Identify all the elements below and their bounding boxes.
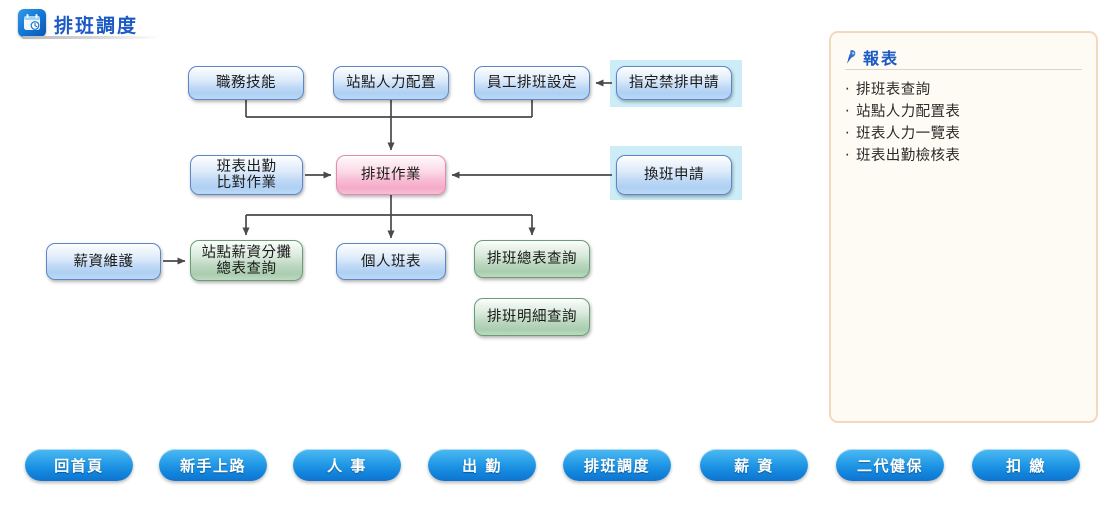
report-list-item[interactable]: ‧班表人力一覽表 [845, 123, 1086, 145]
flow-node-shift-swap-apply[interactable]: 換班申請 [616, 155, 732, 195]
flow-node-salary-maintenance[interactable]: 薪資維護 [46, 243, 161, 280]
flow-node-employee-shift-setup[interactable]: 員工排班設定 [474, 66, 590, 100]
bottom-nav: 回首頁 新手上路 人 事 出 勤 排班調度 薪 資 二代健保 扣 繳 [0, 449, 1113, 489]
flow-node-job-skill[interactable]: 職務技能 [188, 66, 304, 100]
report-list-item-label: 班表人力一覽表 [856, 126, 960, 142]
flow-node-site-manpower-config[interactable]: 站點人力配置 [333, 66, 449, 100]
bullet-marker: ‧ [845, 79, 856, 101]
nav-button-salary[interactable]: 薪 資 [700, 449, 808, 481]
nav-button-nhi[interactable]: 二代健保 [836, 449, 944, 481]
report-panel-title-text: 報表 [863, 45, 899, 69]
flow-node-shift-scheduling[interactable]: 排班作業 [336, 155, 446, 195]
report-list-item[interactable]: ‧班表出勤檢核表 [845, 145, 1086, 167]
flow-node-site-salary-share[interactable]: 站點薪資分攤 總表查詢 [190, 240, 303, 281]
report-panel-title: 報表 [845, 44, 1082, 70]
nav-button-withhold[interactable]: 扣 繳 [972, 449, 1080, 481]
flow-node-personal-shift-table[interactable]: 個人班表 [336, 243, 446, 280]
report-list-item-label: 站點人力配置表 [856, 104, 960, 120]
flow-node-designated-ban-apply[interactable]: 指定禁排申請 [616, 66, 732, 100]
flowchart: 職務技能 站點人力配置 員工排班設定 指定禁排申請 班表出勤 比對作業 排班作業… [0, 0, 820, 440]
flow-node-shift-summary-query[interactable]: 排班總表查詢 [474, 240, 590, 278]
report-list: ‧排班表查詢 ‧站點人力配置表 ‧班表人力一覽表 ‧班表出勤檢核表 [845, 79, 1086, 167]
pushpin-icon [845, 49, 859, 65]
bullet-marker: ‧ [845, 145, 856, 167]
bullet-marker: ‧ [845, 101, 856, 123]
nav-button-personnel[interactable]: 人 事 [293, 449, 401, 481]
flow-node-shift-attend-compare[interactable]: 班表出勤 比對作業 [190, 155, 303, 195]
bullet-marker: ‧ [845, 123, 856, 145]
report-list-item-label: 排班表查詢 [856, 82, 931, 98]
report-list-item[interactable]: ‧排班表查詢 [845, 79, 1086, 101]
report-list-item[interactable]: ‧站點人力配置表 [845, 101, 1086, 123]
report-panel: 報表 ‧排班表查詢 ‧站點人力配置表 ‧班表人力一覽表 ‧班表出勤檢核表 [829, 31, 1098, 423]
report-list-item-label: 班表出勤檢核表 [856, 148, 960, 164]
nav-button-scheduling[interactable]: 排班調度 [563, 449, 671, 481]
nav-button-attendance[interactable]: 出 勤 [428, 449, 536, 481]
nav-button-beginner[interactable]: 新手上路 [159, 449, 267, 481]
flow-node-shift-detail-query[interactable]: 排班明細查詢 [474, 298, 590, 336]
nav-button-home[interactable]: 回首頁 [25, 449, 133, 481]
